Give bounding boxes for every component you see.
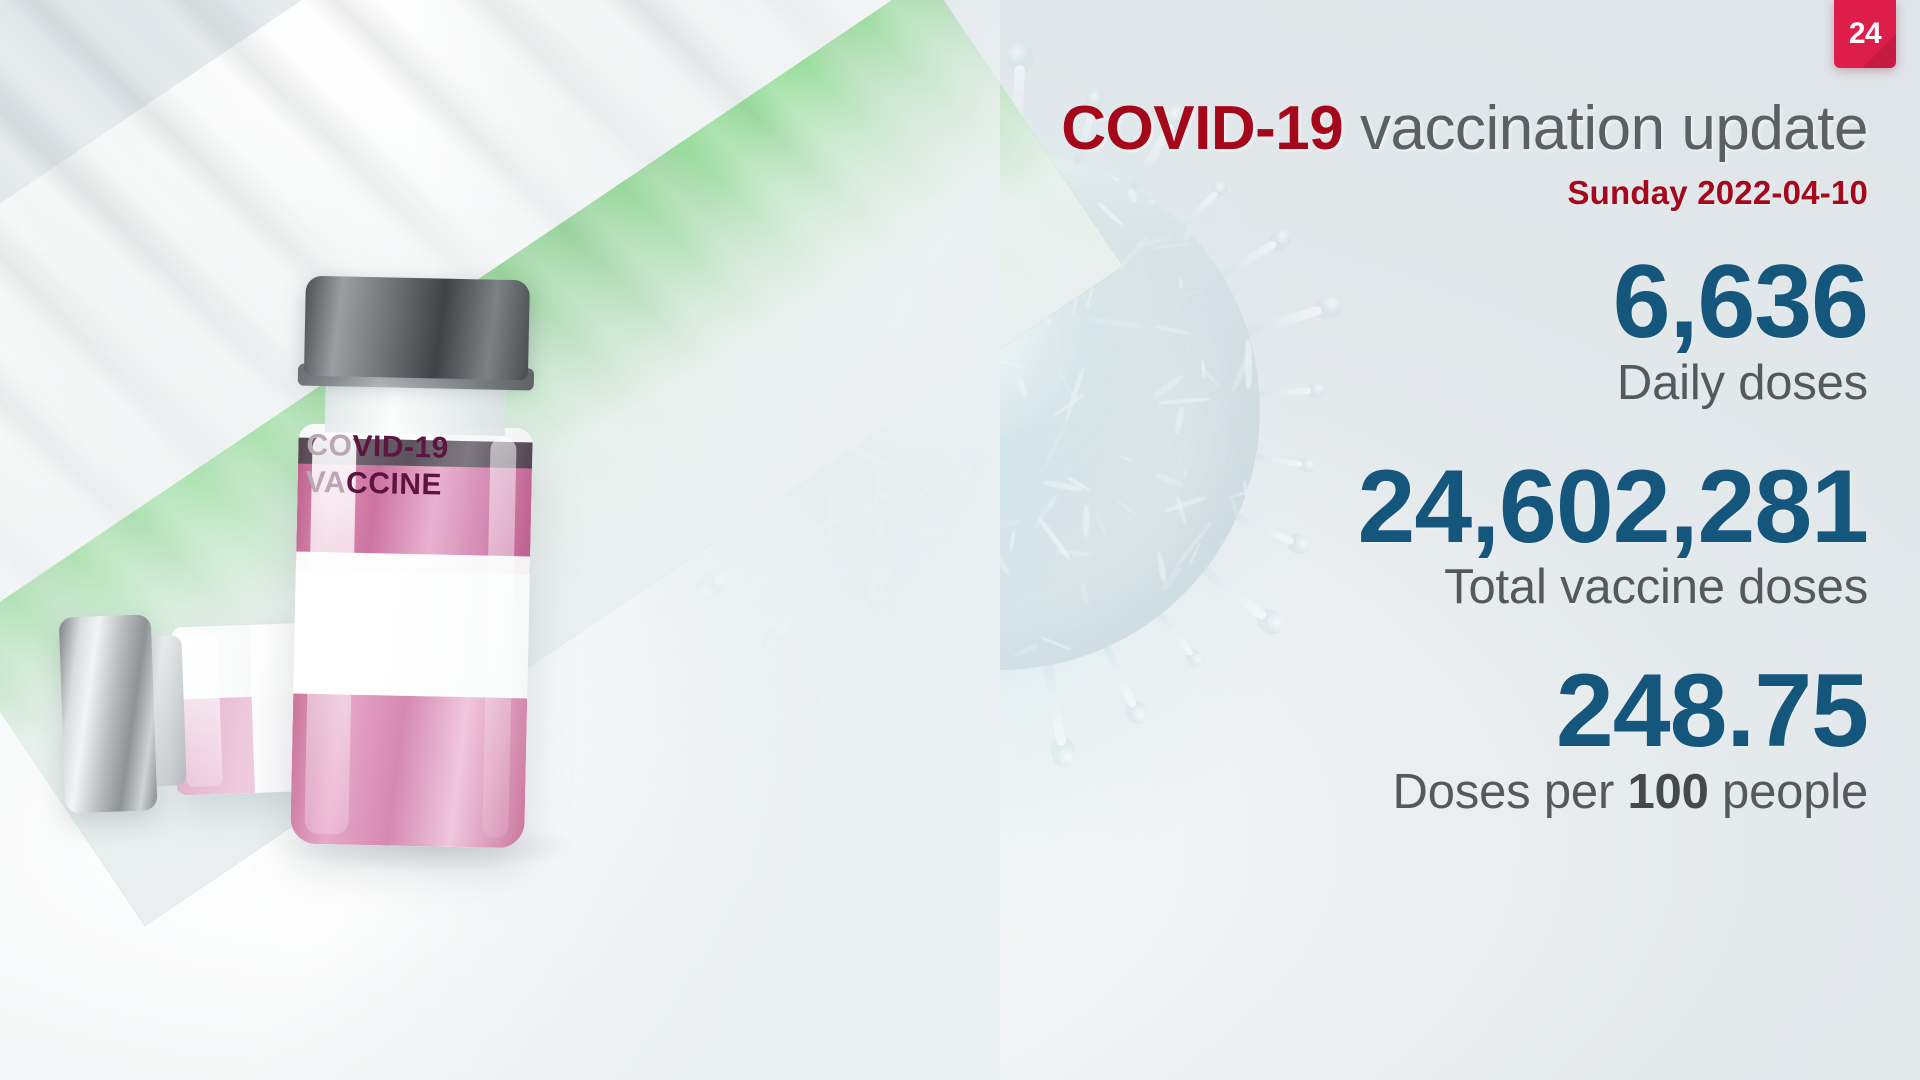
stat-daily-doses: 6,636 Daily doses — [928, 252, 1868, 411]
vial-label-line-2: VACCINE — [305, 464, 516, 505]
channel-24-logo[interactable]: 24 — [1834, 0, 1896, 68]
report-date: Sunday 2022-04-10 — [928, 174, 1868, 212]
stat-label-text: Daily doses — [1617, 356, 1868, 410]
stat-value: 24,602,281 — [928, 457, 1868, 559]
vial-label-line1-dark: VID-19 — [352, 430, 449, 465]
vial-label-line1-dim: CO — [306, 429, 353, 463]
vaccine-vial-primary: COVID-19 VACCINE — [272, 275, 554, 851]
vial-cap-secondary — [59, 614, 158, 813]
stat-label-suffix: people — [1709, 765, 1868, 819]
stat-value: 6,636 — [928, 252, 1868, 354]
stat-label-prefix: Doses per — [1393, 765, 1628, 819]
vial-label-line2-dark: CCINE — [346, 466, 443, 501]
virus-texture-cell — [806, 556, 828, 578]
virus-spike-stem — [713, 540, 782, 587]
vial-label-line2-dim: VA — [305, 465, 346, 499]
stat-label: Doses per 100 people — [928, 765, 1868, 820]
stat-value: 248.75 — [928, 661, 1868, 763]
page-title: COVID-19 vaccination update — [928, 96, 1868, 162]
virus-texture-cell — [875, 460, 915, 466]
virus-spike — [887, 653, 934, 745]
badge-label: 24 — [1849, 17, 1881, 51]
stat-label: Daily doses — [928, 356, 1868, 411]
stat-label-text: Total vaccine doses — [1444, 560, 1868, 614]
virus-texture-cell — [877, 521, 885, 538]
stats-panel: COVID-19 vaccination update Sunday 2022-… — [928, 96, 1868, 820]
virus-spike — [799, 624, 878, 731]
stat-label: Total vaccine doses — [928, 560, 1868, 615]
title-highlight: COVID-19 — [1061, 94, 1343, 163]
stat-doses-per-100: 248.75 Doses per 100 people — [928, 661, 1868, 820]
vial-highlight-secondary — [181, 634, 222, 787]
vial-label-text: COVID-19 VACCINE — [305, 428, 516, 506]
virus-texture-cell — [897, 487, 931, 513]
virus-spike-stem — [898, 655, 927, 726]
virus-texture-cell — [766, 517, 777, 530]
stat-total-doses: 24,602,281 Total vaccine doses — [928, 457, 1868, 616]
vial-cap-primary — [304, 276, 530, 381]
title-rest: vaccination update — [1343, 94, 1868, 163]
stat-label-emphasis: 100 — [1627, 765, 1708, 819]
infographic-canvas: COVID-19 VACCINE 24 COVID-19 vaccination… — [0, 0, 1920, 1080]
